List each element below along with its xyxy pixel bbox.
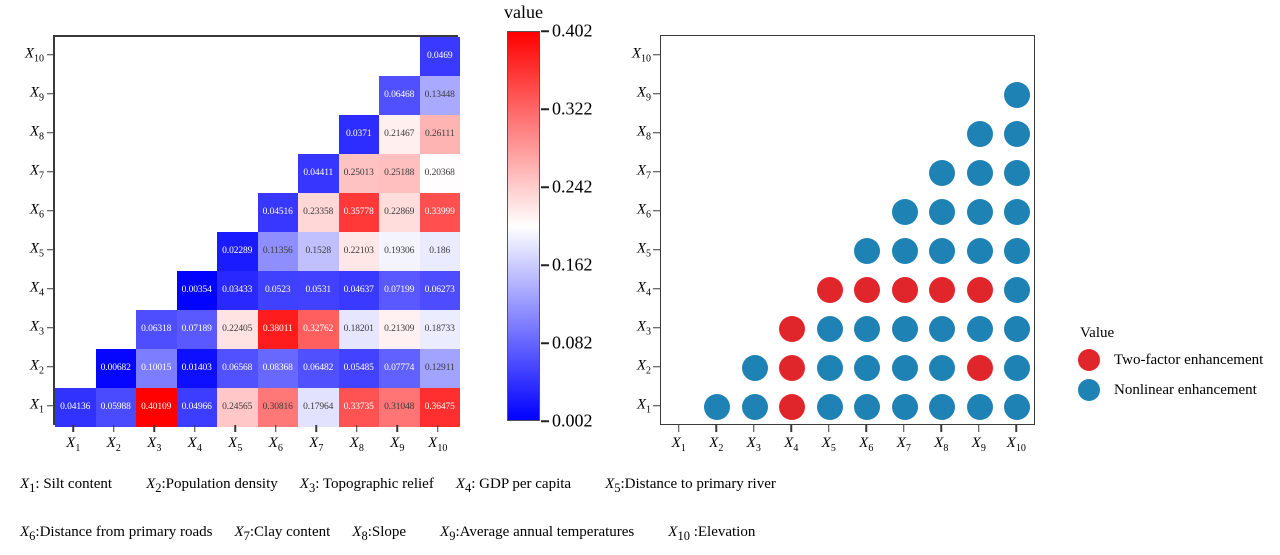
legend-item[interactable]: Two-factor enhancement <box>1078 349 1278 371</box>
heatmap-cell: 0.06273 <box>420 271 461 310</box>
colorbar-tick <box>541 30 549 32</box>
caption-line-2: X6:Distance from primary roadsX7:Clay co… <box>20 524 1280 544</box>
dotplot-dot <box>1004 199 1030 225</box>
heatmap-cell: 0.17964 <box>298 388 339 427</box>
heatmap-cell: 0.05988 <box>96 388 137 427</box>
caption-variable-definition: X1: Silt content <box>20 476 112 496</box>
dotplot-dot <box>892 238 918 264</box>
dotplot-dot <box>1004 277 1030 303</box>
heatmap-x-tick-label: X2 <box>107 435 121 454</box>
dotplot-x-tick-label: X8 <box>934 435 948 454</box>
dotplot-y-tick <box>653 405 660 407</box>
heatmap-y-tick-label: X8 <box>30 123 44 142</box>
dotplot-dot <box>817 277 843 303</box>
dotplot-x-tick <box>903 425 905 432</box>
dotplot-x-tick <box>716 425 718 432</box>
legend-swatch-circle-icon <box>1078 349 1100 371</box>
legend: Value Two-factor enhancementNonlinear en… <box>1078 325 1278 435</box>
heatmap-cell: 0.0531 <box>298 271 339 310</box>
legend-item[interactable]: Nonlinear enhancement <box>1078 379 1278 401</box>
dotplot-x-tick-label: X7 <box>897 435 911 454</box>
heatmap-cell: 0.06482 <box>298 349 339 388</box>
dotplot-dot <box>779 394 805 420</box>
dotplot-x-tick-label: X9 <box>972 435 986 454</box>
dotplot-dot <box>817 355 843 381</box>
dotplot-x-tick-label: X6 <box>859 435 873 454</box>
dotplot-x-tick <box>978 425 980 432</box>
heatmap-x-tick <box>154 425 156 432</box>
caption-line-1: X1: Silt contentX2:Population densityX3:… <box>20 476 1280 496</box>
dotplot-y-tick <box>653 210 660 212</box>
legend-swatch-circle-icon <box>1078 379 1100 401</box>
dotplot-x-tick-label: X4 <box>784 435 798 454</box>
dotplot-dot <box>929 277 955 303</box>
heatmap-x-tick-label: X8 <box>350 435 364 454</box>
legend-item-label: Nonlinear enhancement <box>1114 382 1257 399</box>
heatmap-x-tick-label: X10 <box>428 435 447 454</box>
heatmap-cell: 0.25188 <box>379 154 420 193</box>
dotplot-y-tick-label: X5 <box>637 240 651 259</box>
heatmap-cell: 0.31048 <box>379 388 420 427</box>
dotplot-dot <box>967 355 993 381</box>
heatmap-x-tick-label: X9 <box>390 435 404 454</box>
caption-variable-definition: X7:Clay content <box>234 524 330 544</box>
heatmap-cell: 0.11356 <box>258 232 299 271</box>
dotplot-x-tick-label: X2 <box>709 435 723 454</box>
dotplot-y-tick <box>653 327 660 329</box>
dotplot-x-tick-label: X10 <box>1007 435 1026 454</box>
dotplot-dot <box>704 394 730 420</box>
heatmap-cell: 0.26111 <box>420 115 461 154</box>
dotplot-y-tick-label: X3 <box>637 318 651 337</box>
heatmap-y-tick-label: X10 <box>25 45 44 64</box>
dotplot-x-tick <box>1016 425 1018 432</box>
colorbar-panel: value 0.4020.3220.2420.1620.0820.002 <box>498 0 638 470</box>
dotplot-dot <box>1004 160 1030 186</box>
heatmap-cell: 0.40109 <box>136 388 177 427</box>
dotplot-dot <box>929 238 955 264</box>
dotplot-x-tick <box>866 425 868 432</box>
heatmap-x-tick-label: X4 <box>188 435 202 454</box>
heatmap-cell: 0.38011 <box>258 310 299 349</box>
colorbar-title: value <box>504 2 543 23</box>
heatmap-cell: 0.03433 <box>217 271 258 310</box>
heatmap-cell: 0.18201 <box>339 310 380 349</box>
heatmap-cell: 0.04637 <box>339 271 380 310</box>
heatmap-cell: 0.20368 <box>420 154 461 193</box>
caption-variable-definition: X10 :Elevation <box>668 524 755 544</box>
dotplot-dot <box>892 316 918 342</box>
dotplot-dot <box>967 160 993 186</box>
dotplot-dot <box>854 355 880 381</box>
dotplot-dot <box>742 355 768 381</box>
heatmap-cell: 0.07199 <box>379 271 420 310</box>
heatmap-x-tick-label: X3 <box>147 435 161 454</box>
dotplot-dot <box>1004 82 1030 108</box>
heatmap-cell: 0.07189 <box>177 310 218 349</box>
dotplot-dot <box>779 316 805 342</box>
dotplot-y-tick <box>653 93 660 95</box>
colorbar-tick <box>541 264 549 266</box>
dotplot-y-tick-label: X1 <box>637 396 651 415</box>
heatmap-x-tick <box>437 425 439 432</box>
dotplot-dot <box>854 277 880 303</box>
dotplot-y-tick-label: X6 <box>637 201 651 220</box>
heatmap-x-tick-label: X7 <box>309 435 323 454</box>
dotplot-y-tick-label: X8 <box>637 123 651 142</box>
dotplot-y-tick-label: X2 <box>637 357 651 376</box>
heatmap-cell: 0.25013 <box>339 154 380 193</box>
dotplot-dot <box>967 238 993 264</box>
heatmap-cell: 0.10015 <box>136 349 177 388</box>
dotplot-dot <box>967 277 993 303</box>
dotplot-dot <box>1004 316 1030 342</box>
heatmap-cell: 0.0523 <box>258 271 299 310</box>
dotplot-dot <box>817 316 843 342</box>
dotplot-y-tick <box>653 54 660 56</box>
heatmap-cell: 0.04966 <box>177 388 218 427</box>
caption-variable-definition: X4: GDP per capita <box>456 476 571 496</box>
dotplot-dot <box>929 160 955 186</box>
heatmap-cell: 0.33735 <box>339 388 380 427</box>
heatmap-cell: 0.1528 <box>298 232 339 271</box>
heatmap-y-tick-label: X6 <box>30 201 44 220</box>
dotplot-dot <box>854 316 880 342</box>
colorbar-tick-label: 0.082 <box>552 333 593 354</box>
colorbar-tick <box>541 420 549 422</box>
colorbar-tick-label: 0.242 <box>552 177 593 198</box>
dotplot-y-tick <box>653 366 660 368</box>
heatmap-x-tick <box>194 425 196 432</box>
dotplot-x-tick-label: X1 <box>672 435 686 454</box>
dotplot-x-tick <box>941 425 943 432</box>
dotplot-plot-area <box>660 35 1035 425</box>
heatmap-cell: 0.22405 <box>217 310 258 349</box>
caption-variable-definition: X5:Distance to primary river <box>605 476 776 496</box>
heatmap-x-tick <box>235 425 237 432</box>
dotplot-y-tick-label: X4 <box>637 279 651 298</box>
colorbar-tick-label: 0.402 <box>552 21 593 42</box>
heatmap-cell: 0.00354 <box>177 271 218 310</box>
colorbar-tick-label: 0.162 <box>552 255 593 276</box>
dotplot-y-tick <box>653 132 660 134</box>
heatmap-cell: 0.12911 <box>420 349 461 388</box>
legend-title: Value <box>1080 325 1278 342</box>
heatmap-cell: 0.21467 <box>379 115 420 154</box>
dotplot-dot <box>779 355 805 381</box>
heatmap-cell: 0.02289 <box>217 232 258 271</box>
heatmap-x-tick-label: X1 <box>66 435 80 454</box>
legend-item-label: Two-factor enhancement <box>1114 352 1263 369</box>
heatmap-panel: X10X9X8X7X6X5X4X3X2X1 0.041360.059880.40… <box>0 0 500 470</box>
heatmap-cell: 0.0371 <box>339 115 380 154</box>
caption-variable-definition: X3: Topographic relief <box>300 476 434 496</box>
dotplot-dot <box>929 199 955 225</box>
heatmap-x-tick <box>356 425 358 432</box>
dotplot-y-tick-label: X10 <box>632 45 651 64</box>
heatmap-cell: 0.06468 <box>379 76 420 115</box>
heatmap-y-tick-label: X7 <box>30 162 44 181</box>
dotplot-dot <box>892 277 918 303</box>
dotplot-dot <box>929 316 955 342</box>
dotplot-y-tick-label: X7 <box>637 162 651 181</box>
caption-variable-definition: X6:Distance from primary roads <box>20 524 212 544</box>
dotplot-panel: X10X9X8X7X6X5X4X3X2X1 X1X2X3X4X5X6X7X8X9… <box>620 0 1060 470</box>
caption-variable-definition: X2:Population density <box>146 476 278 496</box>
colorbar-tick <box>541 186 549 188</box>
heatmap-x-tick <box>275 425 277 432</box>
dotplot-x-tick <box>753 425 755 432</box>
heatmap-x-tick <box>73 425 75 432</box>
heatmap-cell: 0.01403 <box>177 349 218 388</box>
heatmap-x-tick <box>397 425 399 432</box>
dotplot-dot <box>742 394 768 420</box>
heatmap-y-tick-label: X1 <box>30 396 44 415</box>
heatmap-plot-area: 0.041360.059880.401090.049660.245650.308… <box>53 35 458 425</box>
colorbar-tick <box>541 108 549 110</box>
heatmap-cell: 0.04411 <box>298 154 339 193</box>
dotplot-dot <box>892 199 918 225</box>
heatmap-y-tick-label: X3 <box>30 318 44 337</box>
heatmap-y-tick-label: X9 <box>30 84 44 103</box>
heatmap-y-tick-label: X2 <box>30 357 44 376</box>
dotplot-x-tick <box>791 425 793 432</box>
dotplot-dot <box>967 121 993 147</box>
dotplot-dot <box>1004 121 1030 147</box>
heatmap-y-tick-label: X4 <box>30 279 44 298</box>
colorbar-tick-label: 0.002 <box>552 411 593 432</box>
heatmap-cell: 0.35778 <box>339 193 380 232</box>
heatmap-cell: 0.00682 <box>96 349 137 388</box>
colorbar-tick <box>541 342 549 344</box>
caption-variable-definition: X9:Average annual temperatures <box>440 524 634 544</box>
heatmap-cell: 0.186 <box>420 232 461 271</box>
heatmap-cell: 0.05485 <box>339 349 380 388</box>
dotplot-dot <box>854 238 880 264</box>
heatmap-cell: 0.06318 <box>136 310 177 349</box>
colorbar-tick-label: 0.322 <box>552 99 593 120</box>
dotplot-dot <box>967 199 993 225</box>
caption-variable-definition: X8:Slope <box>352 524 406 544</box>
heatmap-cell: 0.08368 <box>258 349 299 388</box>
dotplot-y-tick <box>653 171 660 173</box>
heatmap-cell: 0.06568 <box>217 349 258 388</box>
dotplot-dot <box>1004 238 1030 264</box>
heatmap-cell: 0.13448 <box>420 76 461 115</box>
dotplot-y-tick <box>653 288 660 290</box>
dotplot-dot <box>892 355 918 381</box>
heatmap-cell: 0.04516 <box>258 193 299 232</box>
dotplot-x-tick <box>828 425 830 432</box>
heatmap-cell: 0.32762 <box>298 310 339 349</box>
heatmap-cell: 0.04136 <box>55 388 96 427</box>
dotplot-x-tick <box>678 425 680 432</box>
legend-items: Two-factor enhancementNonlinear enhancem… <box>1078 349 1278 401</box>
colorbar-gradient <box>507 31 540 421</box>
heatmap-y-tick-label: X5 <box>30 240 44 259</box>
dotplot-dot <box>967 394 993 420</box>
heatmap-cell: 0.36475 <box>420 388 461 427</box>
heatmap-cell: 0.19306 <box>379 232 420 271</box>
dotplot-dot <box>1004 394 1030 420</box>
dotplot-dot <box>854 394 880 420</box>
heatmap-cell: 0.22103 <box>339 232 380 271</box>
heatmap-cell: 0.18733 <box>420 310 461 349</box>
dotplot-x-tick-label: X5 <box>822 435 836 454</box>
dotplot-dot <box>1004 355 1030 381</box>
heatmap-cell: 0.33999 <box>420 193 461 232</box>
heatmap-cell: 0.0469 <box>420 37 461 76</box>
heatmap-x-tick <box>316 425 318 432</box>
heatmap-cell: 0.22869 <box>379 193 420 232</box>
dotplot-y-tick-label: X9 <box>637 84 651 103</box>
heatmap-cell: 0.07774 <box>379 349 420 388</box>
dotplot-dot <box>929 355 955 381</box>
heatmap-x-tick-label: X5 <box>228 435 242 454</box>
dotplot-dot <box>817 394 843 420</box>
dotplot-y-tick <box>653 249 660 251</box>
heatmap-cell: 0.24565 <box>217 388 258 427</box>
dotplot-x-tick-label: X3 <box>747 435 761 454</box>
caption: X1: Silt contentX2:Population densityX3:… <box>0 468 1280 544</box>
heatmap-cell: 0.21309 <box>379 310 420 349</box>
dotplot-dot <box>892 394 918 420</box>
heatmap-x-tick-label: X6 <box>269 435 283 454</box>
dotplot-dot <box>929 394 955 420</box>
heatmap-cell: 0.23358 <box>298 193 339 232</box>
dotplot-dot <box>967 316 993 342</box>
heatmap-cell: 0.30816 <box>258 388 299 427</box>
heatmap-x-tick <box>113 425 115 432</box>
